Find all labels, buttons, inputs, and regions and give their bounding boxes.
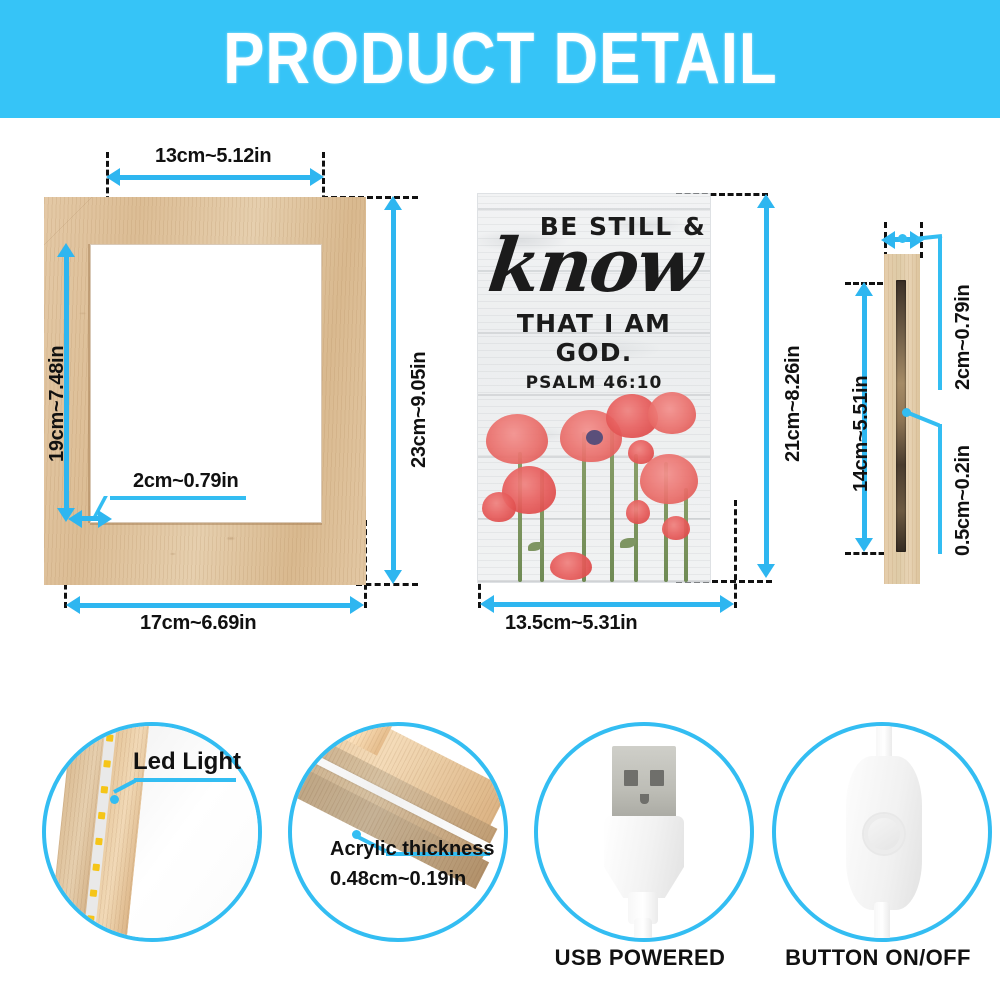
frame-illustration bbox=[44, 197, 366, 585]
panel-width-line bbox=[492, 602, 724, 607]
base-height-label: 14cm~5.51in bbox=[850, 376, 873, 492]
frame-inner-height-arrow-top bbox=[57, 243, 75, 257]
acrylic-callout-value: 0.48cm~0.19in bbox=[330, 868, 466, 891]
poppy-flowers-illustration bbox=[478, 392, 710, 582]
quote-line-3: THAT I AM GOD. bbox=[478, 309, 710, 367]
frame-inner-height-label: 19cm~7.48in bbox=[46, 346, 69, 462]
frame-outer-width-arrow-right bbox=[350, 596, 364, 614]
led-callout-dot bbox=[110, 795, 119, 804]
feature-caption-button-on-off: BUTTON ON/OFF bbox=[772, 945, 984, 971]
base-height-arrow-bottom bbox=[855, 538, 873, 552]
led-callout-title: Led Light bbox=[133, 748, 241, 776]
power-button[interactable] bbox=[864, 814, 904, 854]
base-wood-body bbox=[884, 254, 920, 584]
base-height-arrow-top bbox=[855, 282, 873, 296]
frame-bevel-bottom bbox=[90, 523, 322, 525]
feature-circle-acrylic-thickness bbox=[288, 722, 508, 942]
base-width-arrow-left bbox=[881, 231, 895, 249]
frame-outer-width-line bbox=[78, 603, 354, 608]
usb-tongue-notch bbox=[640, 794, 649, 804]
base-slot-label: 0.5cm~0.2in bbox=[952, 445, 975, 556]
panel-height-label: 21cm~8.26in bbox=[782, 346, 805, 462]
feature-circle-usb-powered bbox=[534, 722, 754, 942]
frame-border-width-label: 2cm~0.79in bbox=[133, 470, 238, 493]
frame-outer-width-arrow-left bbox=[66, 596, 80, 614]
quote-line-4: PSALM 46:10 bbox=[478, 373, 710, 393]
frame-border-callout-rule bbox=[110, 496, 246, 500]
usb-connector-metal bbox=[612, 746, 676, 820]
base-slot-leader-vert bbox=[938, 424, 942, 554]
panel-height-arrow-bottom bbox=[757, 564, 775, 578]
panel-quote-block: BE STILL & know THAT I AM GOD. PSALM 46:… bbox=[478, 212, 710, 393]
acrylic-callout-title: Acrylic thickness bbox=[330, 838, 495, 861]
frame-outer-width-label: 17cm~6.69in bbox=[140, 612, 256, 635]
product-detail-page: PRODUCT DETAIL 13cm~5.12in 23cm~9.05in bbox=[0, 0, 1000, 1000]
frame-border-arrow-right bbox=[98, 510, 112, 528]
frame-outer-height-line bbox=[391, 208, 396, 574]
feature-caption-usb-powered: USB POWERED bbox=[534, 945, 746, 971]
frame-border-arrow-left bbox=[68, 510, 82, 528]
base-width-label: 2cm~0.79in bbox=[952, 285, 975, 390]
page-title: PRODUCT DETAIL bbox=[223, 23, 777, 95]
panel-width-arrow-left bbox=[480, 595, 494, 613]
usb-contact-slot-right bbox=[650, 770, 664, 786]
frame-outer-height-arrow-top bbox=[384, 196, 402, 210]
frame-outer-height-arrow-bottom bbox=[384, 570, 402, 584]
panel-width-label: 13.5cm~5.31in bbox=[505, 612, 637, 635]
frame-outer-height-label: 23cm~9.05in bbox=[408, 352, 431, 468]
usb-cable bbox=[634, 918, 652, 942]
base-width-anchor-dot bbox=[898, 234, 907, 243]
frame-inner-width-arrow-left bbox=[106, 168, 120, 186]
frame-inner-width-label: 13cm~5.12in bbox=[155, 145, 271, 168]
feature-circle-button-on-off bbox=[772, 722, 992, 942]
frame-inner-width-arrow-right bbox=[310, 168, 324, 186]
panel-width-arrow-right bbox=[720, 595, 734, 613]
quote-line-2: know bbox=[478, 235, 710, 299]
frame-inner-width-line bbox=[118, 175, 314, 180]
base-width-leader bbox=[938, 236, 942, 390]
panel-ext-line-right bbox=[734, 500, 737, 608]
panel-height-line bbox=[764, 206, 769, 568]
page-header-banner: PRODUCT DETAIL bbox=[0, 0, 1000, 118]
led-callout-rule bbox=[134, 778, 236, 782]
panel-artwork: BE STILL & know THAT I AM GOD. PSALM 46:… bbox=[478, 194, 710, 582]
switch-cable-bottom bbox=[874, 902, 890, 942]
usb-contact-slot-left bbox=[624, 770, 638, 786]
panel-height-arrow-top bbox=[757, 194, 775, 208]
usb-plug-housing bbox=[604, 816, 684, 898]
